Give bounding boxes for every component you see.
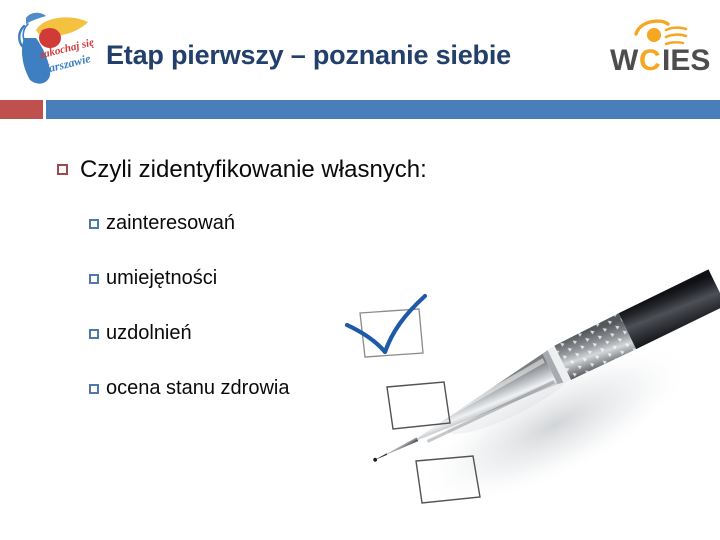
list-item: umiejętności (89, 266, 217, 291)
square-bullet-icon (89, 329, 99, 339)
list-item: ocena stanu zdrowia (89, 376, 289, 401)
wcies-logo: W C IES (608, 18, 714, 80)
sub-bullet-label-3: ocena stanu zdrowia (106, 376, 289, 401)
square-bullet-icon (57, 164, 68, 175)
wcies-logo-text-w: W (610, 44, 639, 77)
sub-bullet-label-1: umiejętności (106, 266, 217, 291)
header-divider-red-block (0, 100, 43, 119)
lead-bullet-label: Czyli zidentyfikowanie własnych: (80, 155, 427, 185)
square-bullet-icon (89, 219, 99, 229)
pen-and-checkboxes-photo (340, 240, 720, 540)
page-title: Etap pierwszy – poznanie siebie (106, 38, 596, 72)
slide: zakochaj się w Warszawie Etap pierwszy –… (0, 0, 720, 540)
sub-bullet-label-2: uzdolnień (106, 321, 192, 346)
square-bullet-icon (89, 274, 99, 284)
wcies-logo-text-ies: IES (662, 44, 710, 77)
header-divider-blue-bar (46, 100, 720, 119)
wcies-logo-text-c: C (639, 44, 661, 77)
list-item: uzdolnień (89, 321, 192, 346)
list-item: zainteresowań (89, 211, 235, 236)
square-bullet-icon (89, 384, 99, 394)
sub-bullet-label-0: zainteresowań (106, 211, 235, 236)
zakochaj-sie-w-warszawie-logo: zakochaj się w Warszawie (6, 8, 102, 90)
list-item: Czyli zidentyfikowanie własnych: (57, 155, 427, 185)
wcies-figure-head-icon (647, 28, 661, 42)
slide-header: zakochaj się w Warszawie Etap pierwszy –… (0, 0, 720, 96)
